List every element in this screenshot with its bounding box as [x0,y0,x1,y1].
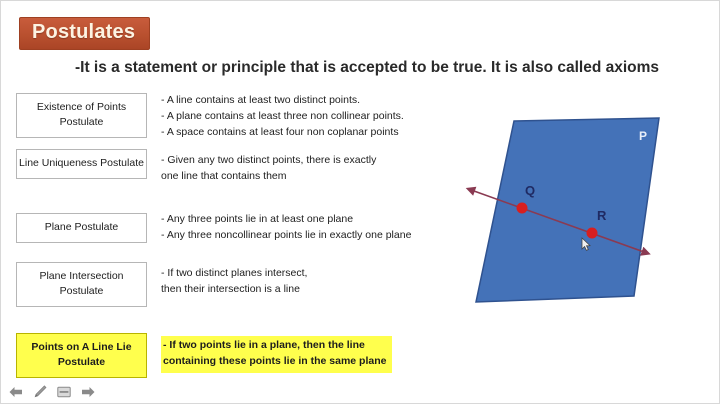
postulate-description-line: - A space contains at least four non cop… [161,125,404,141]
postulate-description: - If two points lie in a plane, then the… [161,336,392,373]
back-arrow-icon[interactable] [8,384,23,399]
point-r-label: R [597,208,607,223]
postulate-description-line: - If two distinct planes intersect, [161,266,307,282]
note-icon[interactable] [56,384,71,399]
forward-arrow-icon[interactable] [80,384,95,399]
postulate-term-label: Plane Postulate [45,221,119,233]
slide-subtitle: -It is a statement or principle that is … [75,59,659,77]
point-q-label: Q [525,183,535,198]
point-q-marker [517,203,528,214]
postulate-term-box: Plane Postulate [16,213,147,243]
postulate-term-label: Line Uniqueness Postulate [19,157,144,169]
postulate-description-line: - Given any two distinct points, there i… [161,153,376,169]
postulate-description-line: - Any three noncollinear points lie in e… [161,228,411,244]
postulate-description: - If two distinct planes intersect, then… [161,266,307,298]
postulate-description-line: - Any three points lie in at least one p… [161,212,411,228]
slide-canvas: Postulates -It is a statement or princip… [0,0,720,404]
point-r-marker [587,228,598,239]
postulate-term-label: Existence of Points Postulate [37,101,126,128]
pencil-icon[interactable] [32,384,47,399]
postulate-description: - A line contains at least two distinct … [161,93,404,141]
postulate-term-box: Line Uniqueness Postulate [16,149,147,179]
postulate-term-label: Points on A Line Lie Postulate [31,341,131,368]
postulate-term-box: Existence of Points Postulate [16,93,147,138]
plane-polygon [476,118,659,302]
postulate-description: - Any three points lie in at least one p… [161,212,411,244]
postulate-description-line: - A plane contains at least three non co… [161,109,404,125]
bottom-toolbar [8,384,95,399]
postulate-term-box: Plane Intersection Postulate [16,262,147,307]
postulate-description: - Given any two distinct points, there i… [161,153,376,185]
page-title: Postulates [19,17,150,50]
postulate-term-box: Points on A Line Lie Postulate [16,333,147,378]
postulate-description-line: - A line contains at least two distinct … [161,93,404,109]
plane-p-label: P [639,129,647,143]
postulate-description-line: one line that contains them [161,169,376,185]
postulate-description-line: - If two points lie in a plane, then the… [163,338,386,354]
postulate-term-label: Plane Intersection Postulate [39,270,123,297]
postulate-description-line: containing these points lie in the same … [163,354,386,370]
postulate-description-line: then their intersection is a line [161,282,307,298]
plane-diagram: Q R P [456,106,714,311]
